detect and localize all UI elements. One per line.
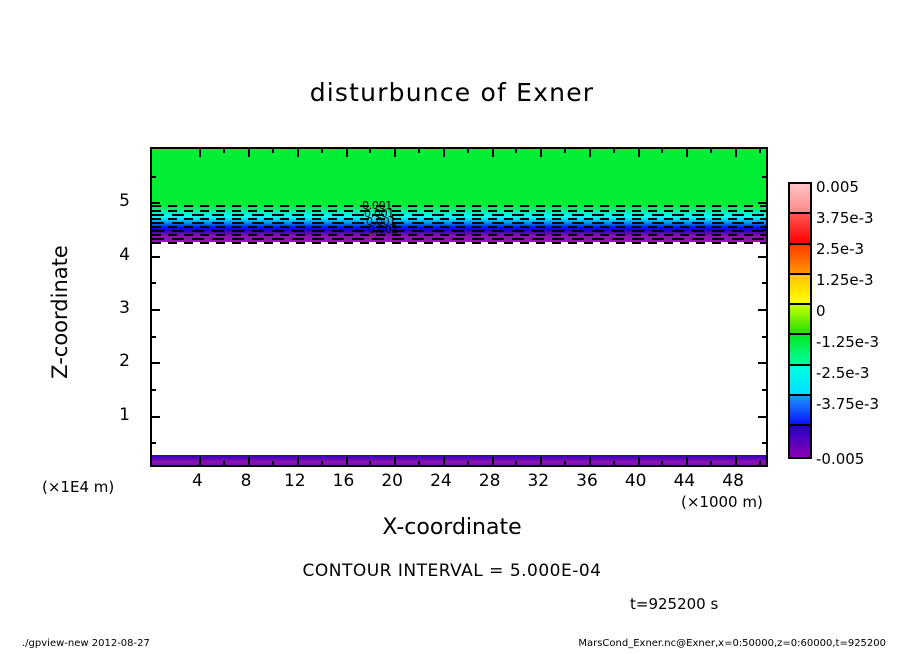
contour-label: 0.001 <box>368 223 398 236</box>
plot-canvas: disturbunce of Exner 0.001 0.001 <box>0 0 904 654</box>
y-tick-label: 4 <box>96 245 130 265</box>
colorbar-segment <box>790 426 810 457</box>
plot-frame: 0.001 0.001 0.001 0.001 <box>150 147 768 467</box>
colorbar-segment <box>790 275 810 305</box>
page-title: disturbunce of Exner <box>0 78 904 107</box>
colorbar-segment <box>790 335 810 365</box>
colorbar-segment <box>790 396 810 426</box>
x-tick-label: 48 <box>703 471 763 491</box>
plot-field: 0.001 0.001 0.001 0.001 <box>152 149 766 465</box>
time-stamp: t=925200 s <box>630 595 718 613</box>
field-region-blank <box>152 242 766 455</box>
colorbar-label: -1.25e-3 <box>816 333 879 351</box>
y-tick-label: 2 <box>96 351 130 371</box>
y-axis-title: Z-coordinate <box>48 212 72 412</box>
z-axis-units: (×1E4 m) <box>42 478 114 496</box>
field-region-bottom <box>152 455 766 465</box>
colorbar-label: 2.5e-3 <box>816 240 864 258</box>
footer-dataset: MarsCond_Exner.nc@Exner,x=0:50000,z=0:60… <box>578 638 886 649</box>
colorbar-label: -3.75e-3 <box>816 395 879 413</box>
y-tick-label: 3 <box>96 298 130 318</box>
footer-command: ./gpview-new 2012-08-27 <box>22 638 150 649</box>
colorbar-label: 3.75e-3 <box>816 209 874 227</box>
colorbar-label: 1.25e-3 <box>816 271 874 289</box>
colorbar-segment <box>790 366 810 396</box>
colorbar-label: -0.005 <box>816 450 864 468</box>
colorbar-label: 0 <box>816 302 826 320</box>
colorbar-label: -2.5e-3 <box>816 364 869 382</box>
field-region-upper <box>152 149 766 205</box>
y-tick-label: 1 <box>96 405 130 425</box>
colorbar-segment <box>790 214 810 244</box>
x-axis-title: X-coordinate <box>0 515 904 540</box>
colorbar-label: 0.005 <box>816 178 859 196</box>
colorbar-segment <box>790 305 810 335</box>
colorbar-segment <box>790 245 810 275</box>
colorbar <box>788 182 812 459</box>
colorbar-segment <box>790 184 810 214</box>
contour-lines <box>152 199 766 245</box>
x-axis-units: (×1000 m) <box>681 493 763 511</box>
contour-interval-note: CONTOUR INTERVAL = 5.000E-04 <box>0 561 904 581</box>
y-tick-label: 5 <box>96 191 130 211</box>
